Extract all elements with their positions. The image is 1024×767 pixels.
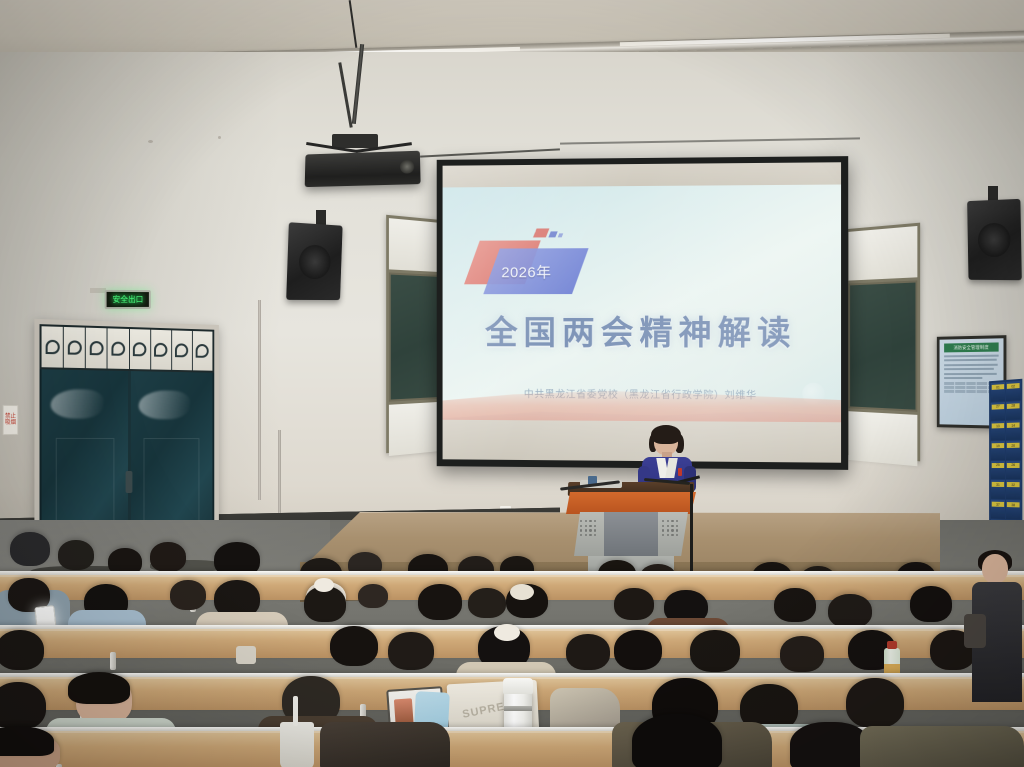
locker-cell[interactable]: 27 [991,402,1005,421]
scroll-ornament-icon [111,342,125,356]
audience-head [780,636,824,672]
locker-cell[interactable]: 13 [991,421,1005,440]
locker-cell[interactable]: 26 [1006,461,1021,480]
locker-cell[interactable]: 02 [1006,381,1021,401]
locker-number-tag: 37 [992,502,1004,507]
locker-number-tag: 14 [1007,423,1020,428]
lapel-badge [678,468,682,476]
locker-row[interactable]: 37 38 [991,500,1021,520]
locker-number-tag: 28 [1007,403,1020,409]
locker-number-tag: 32 [1007,482,1020,487]
blackboard-right [846,223,920,462]
audience-head [774,588,816,622]
audience-head [150,542,186,572]
locker-cell[interactable]: 32 [1006,480,1021,499]
screen-surface: 2026年 全国两会精神解读 中共黑龙江省委党校（黑龙江省行政学院）刘维华 [443,162,841,462]
transom-pane [193,331,213,371]
locker-number-tag: 01 [992,384,1004,390]
logo-accent-shape [558,233,564,237]
projection-screen: 2026年 全国两会精神解读 中共黑龙江省委党校（黑龙江省行政学院）刘维华 [437,156,848,470]
locker-number-tag: 38 [1007,502,1020,507]
scroll-ornament-icon [154,343,167,357]
hair [68,672,130,704]
locker-row[interactable]: 13 14 [991,421,1021,441]
audience-head [0,682,46,730]
logo-accent-shape [548,231,557,237]
hair [651,425,681,444]
audience-head [614,588,654,620]
transom-pane [42,326,64,367]
locker-number-tag: 25 [992,463,1004,468]
scroll-ornament-icon [196,344,209,358]
scroll-ornament-icon [175,343,188,357]
audience-head [790,722,870,767]
audience-head [846,678,904,728]
locker-row[interactable]: 25 26 [991,461,1021,480]
scroll-ornament-icon [68,340,82,355]
speaker-cone-icon [298,244,331,279]
locker-number-tag: 27 [992,404,1004,410]
straw [293,696,298,726]
audience-head [468,588,506,618]
slide-title: 全国两会精神解读 [443,306,841,355]
wall-conduit [278,430,281,520]
audience-head [330,626,378,666]
door-handle[interactable] [126,471,133,493]
standing-attendee [968,554,1024,754]
locker-cell[interactable]: 25 [991,461,1005,480]
presentation-slide: 2026年 全国两会精神解读 中共黑龙江省委党校（黑龙江省行政学院）刘维华 [443,185,841,436]
wall-mark [218,136,221,139]
audience-head [828,594,872,628]
dark-coat [320,722,450,767]
locker-number-tag: 20 [1007,443,1020,448]
slide-year-badge: 2026年 [501,261,588,282]
locker-cell[interactable]: 20 [1006,441,1021,460]
scroll-ornament-icon [90,341,104,355]
locker-number-tag: 02 [1007,383,1020,389]
board-panel [848,411,917,466]
door-reflection [50,388,104,419]
audience-head [0,630,44,670]
door-transom-window [40,324,215,373]
locker-number-tag: 31 [992,482,1004,487]
locker-cell[interactable]: 01 [991,382,1005,401]
projector-bracket [332,134,378,148]
wall-speaker-left [286,222,342,300]
scroll-ornament-icon [133,342,147,356]
transom-pane [86,328,108,369]
hair-scrunchie [510,584,534,600]
audience-head [910,586,952,622]
audience-head [566,634,610,670]
emergency-exit-sign: 安全出口 [105,290,151,309]
shoulder-bag [964,614,986,648]
locker-number-tag: 26 [1007,463,1020,468]
wall-speaker-right [967,199,1022,280]
screen-top-border [443,162,841,187]
lectern-desktop [566,492,696,514]
door-reflection [139,390,190,420]
wall-mark [148,140,153,143]
scroll-ornament-icon [45,340,59,355]
no-smoking-sign: 禁止吸烟 [3,405,19,435]
locker-number-tag: 13 [992,423,1004,428]
speaker-cone-icon [978,223,1011,258]
transom-pane [129,329,150,369]
notice-header-label: 消防安全管理制度 [953,344,988,351]
locker-row[interactable]: 31 32 [991,480,1021,499]
hair-scrunchie [494,624,520,641]
chalkboard-surface [848,280,917,411]
ceiling-projector [305,151,421,187]
audience-area: SUPREME [0,526,1024,767]
transom-pane [64,327,86,368]
locker-number-tag: 19 [992,443,1004,448]
head [982,554,1008,584]
two-sessions-logo: 2026年 [468,228,606,298]
locker-row[interactable]: 27 28 [991,401,1021,421]
projector-lens-icon [400,160,414,174]
locker-cell[interactable]: 31 [991,480,1005,499]
audience-head [690,630,740,672]
drink-cup-with-straw[interactable] [280,722,314,767]
audience-head [10,532,50,566]
locker-row[interactable]: 01 02 [991,381,1021,402]
locker-cell[interactable]: 19 [991,441,1005,460]
locker-row[interactable]: 19 20 [991,441,1021,460]
lecture-hall-photo: 2026年 全国两会精神解读 中共黑龙江省委党校（黑龙江省行政学院）刘维华 [0,0,1024,767]
logo-accent-shape [533,228,549,237]
locker-cell[interactable]: 38 [1006,500,1021,519]
transom-pane [108,328,130,369]
locker-cell[interactable]: 37 [991,500,1005,519]
tissue-pack [236,646,256,664]
exit-sign-label: 安全出口 [112,294,143,305]
audience-head [358,584,388,608]
sign-bracket [90,288,106,293]
locker-cell[interactable]: 28 [1006,401,1021,420]
wall-conduit [258,300,261,500]
audience-head [418,584,462,620]
locker-cell[interactable]: 14 [1006,421,1021,440]
audience-head [388,632,434,670]
transom-pane [151,330,172,370]
hair-scrunchie [314,578,334,592]
audience-head [632,714,722,767]
audience-head [614,630,662,670]
no-smoking-label: 禁止吸烟 [4,414,18,427]
notice-header-bar: 消防安全管理制度 [944,342,999,352]
transom-pane [172,330,193,370]
audience-head [170,580,206,610]
board-panel [848,226,917,281]
audience-head [58,540,94,570]
